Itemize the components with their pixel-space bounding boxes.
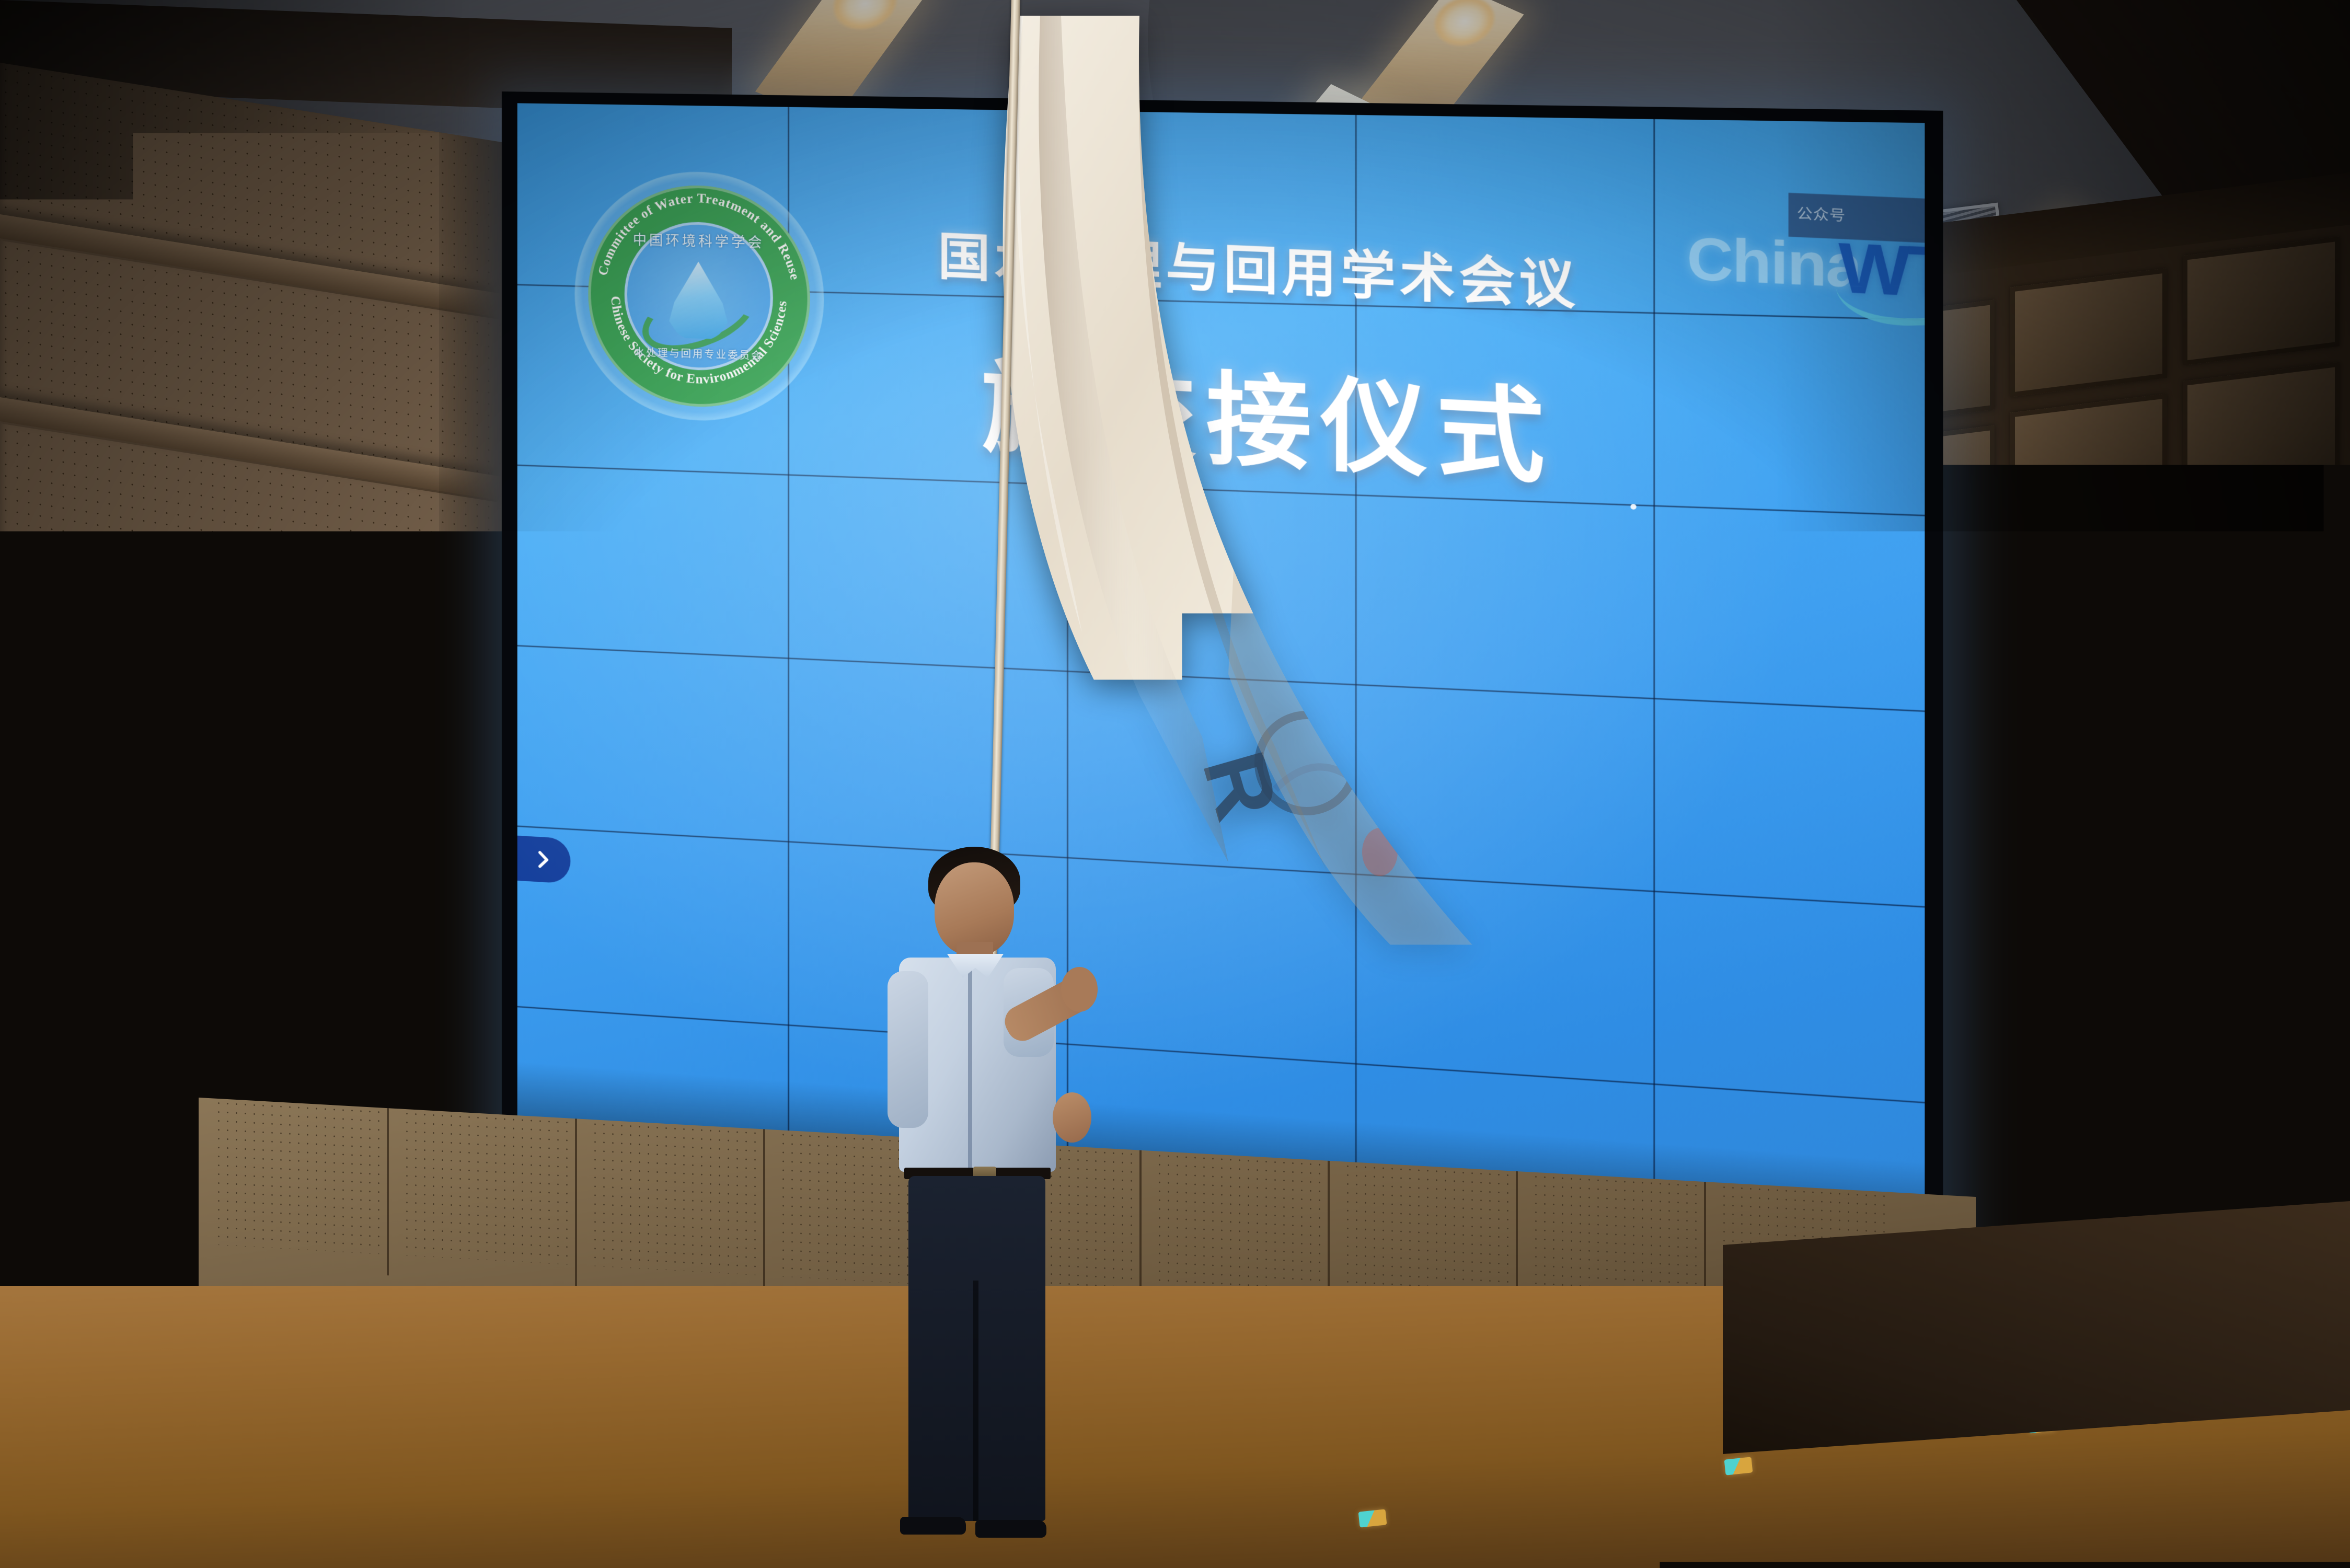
right-hand <box>1061 967 1098 1012</box>
shoe-right <box>1754 1514 1820 1531</box>
brand-name-china: China <box>1687 223 1861 302</box>
perforated-panel <box>1155 1151 1328 1307</box>
wall-panel <box>2010 895 2167 1024</box>
shoe-left <box>1684 1512 1746 1529</box>
wall-panel <box>2010 644 2167 774</box>
trouser-seam <box>973 1281 978 1521</box>
wall-panel <box>2010 394 2167 523</box>
screen-next-button[interactable] <box>517 836 571 884</box>
wall-panel <box>2183 613 2340 742</box>
chevron-right-icon <box>533 848 554 870</box>
society-logo: Committee of Water Treatment and Reuse C… <box>574 170 824 425</box>
podium-nameplate: 西安建筑科技大学 XI'AN UNIVERSITY OF ARCHITECTUR… <box>567 1082 831 1175</box>
panel-seam <box>387 1108 389 1275</box>
trouser-seam <box>1751 1286 1756 1516</box>
shirt-placket <box>968 961 972 1170</box>
wall-panel <box>2010 770 2167 899</box>
overlay-bar-left-text: 公众号 <box>1797 202 1846 225</box>
society-logo-cn-top: 中国环境科学学会 <box>625 229 773 252</box>
perforated-panel <box>214 1099 387 1254</box>
screen-accent-dot <box>1630 504 1636 510</box>
shoe-left <box>900 1517 966 1535</box>
wall-panel <box>2010 519 2167 648</box>
university-building-icon <box>638 1281 706 1329</box>
floor-marker-light <box>1358 1509 1387 1527</box>
person-flag-bearer <box>883 847 1103 1568</box>
wall-panel <box>2183 236 2340 365</box>
wall-panel <box>2183 487 2340 616</box>
wall-panel <box>2183 863 2340 993</box>
wall-panel <box>2010 268 2167 397</box>
person-official-right <box>1657 847 1845 1558</box>
university-emblem: 西安建筑科技大学 1895 XI'AN UNIVERSITY OF ARCHIT… <box>606 1225 737 1381</box>
foreground-wooden-box <box>10 1435 183 1568</box>
left-arm <box>1672 963 1712 1187</box>
nameplate-cn: 西安建筑科技大学 <box>567 1067 831 1164</box>
left-arm <box>888 971 928 1128</box>
shoe-right <box>975 1520 1046 1538</box>
left-hand-on-pole <box>1053 1092 1091 1143</box>
right-arm <box>1797 963 1835 1182</box>
wall-panel <box>2183 362 2340 491</box>
wall-panel <box>2183 738 2340 867</box>
auditorium-scene: Committee of Water Treatment and Reuse C… <box>0 0 2350 1568</box>
water-drop-icon <box>666 261 730 342</box>
